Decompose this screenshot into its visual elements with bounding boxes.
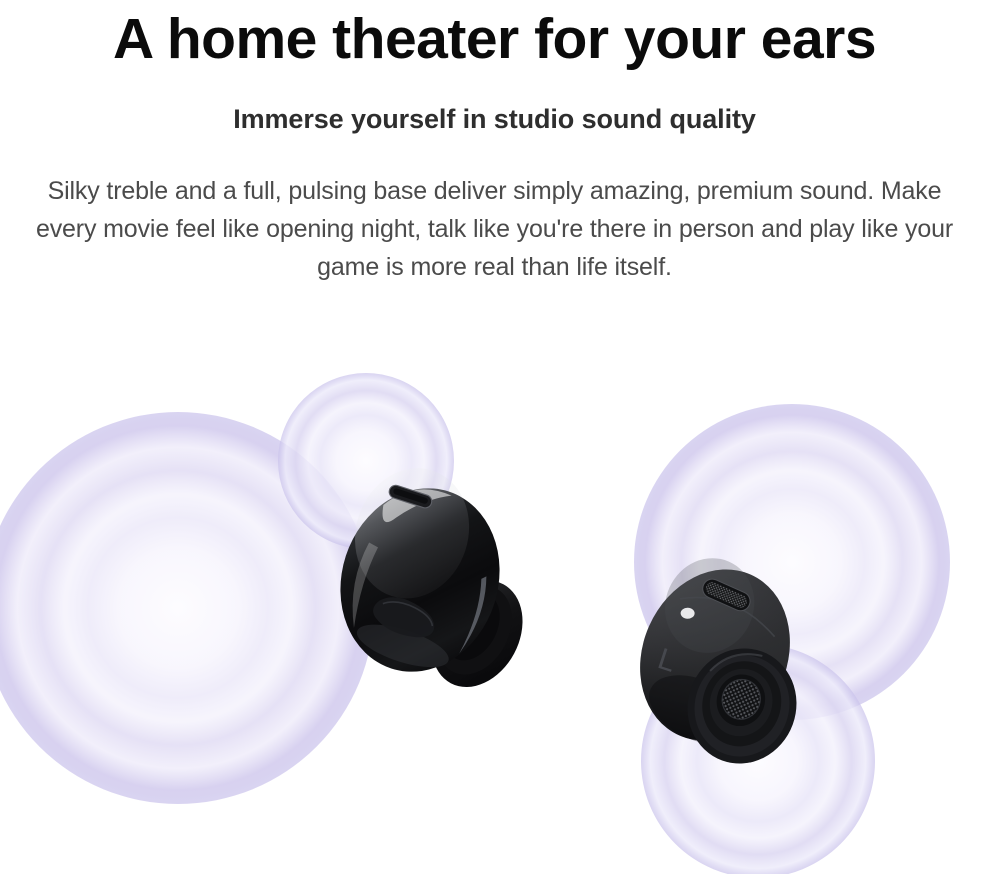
page-title: A home theater for your ears	[0, 4, 989, 74]
marketing-copy-block: A home theater for your ears Immerse you…	[0, 0, 989, 286]
page-subtitle: Immerse yourself in studio sound quality	[0, 74, 989, 136]
product-feature-page: L A h	[0, 0, 989, 874]
body-paragraph: Silky treble and a full, pulsing base de…	[19, 136, 971, 286]
